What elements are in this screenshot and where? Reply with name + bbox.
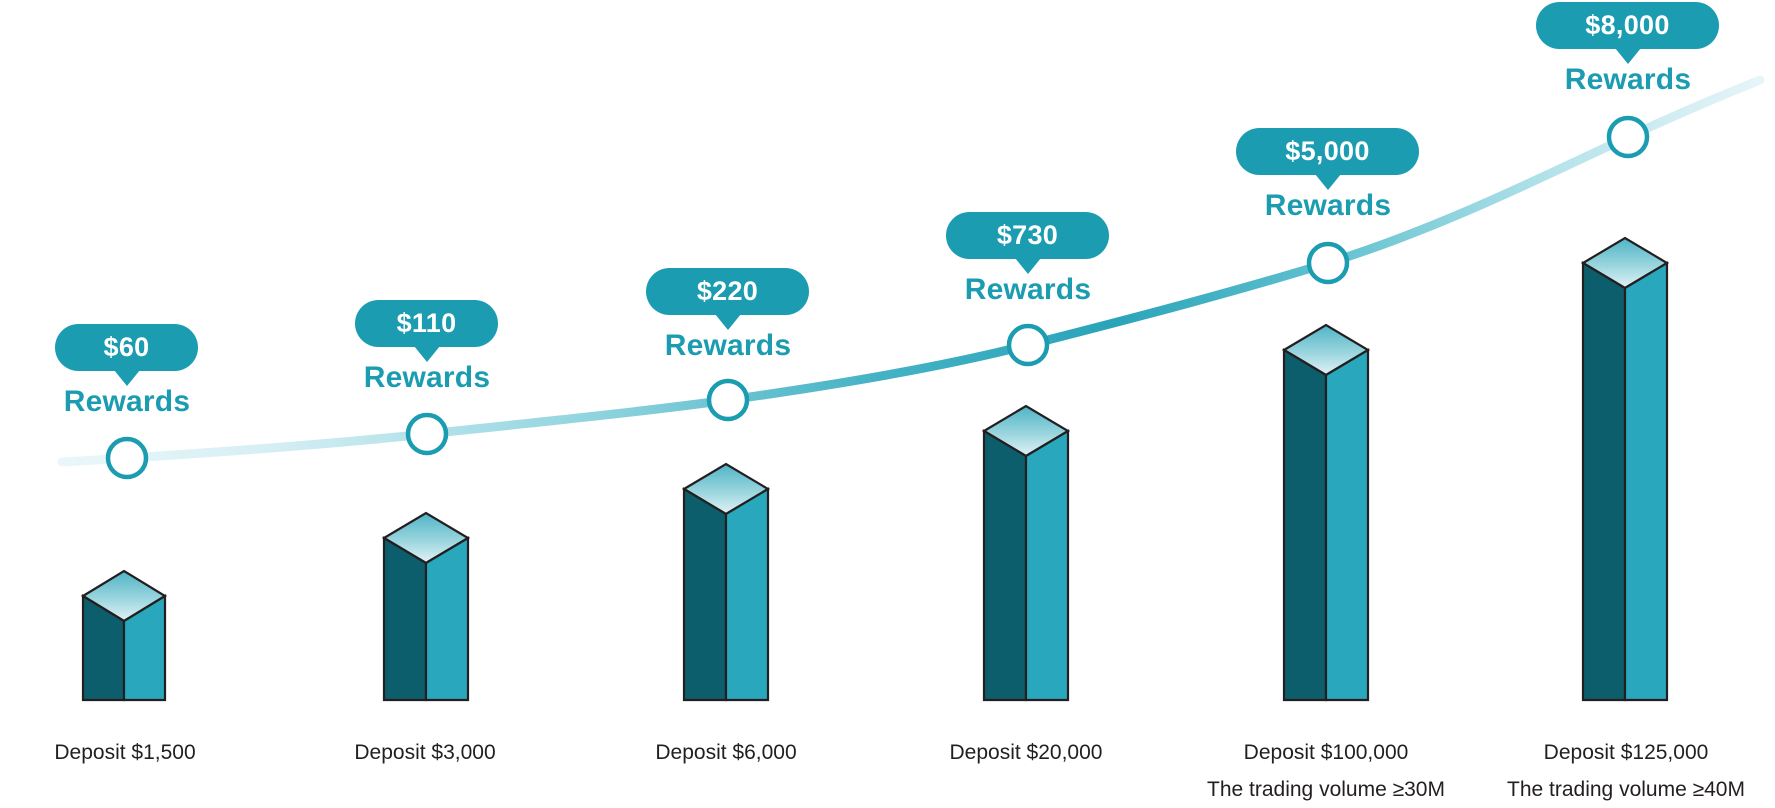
axis-label-tier-5: Deposit $100,000 The trading volume ≥30M: [1171, 734, 1481, 808]
labels-layer: $60 $110 $220 $730 $5,000 $8,000 Rewards…: [0, 0, 1775, 807]
axis-label-tier-2: Deposit $3,000: [300, 734, 550, 771]
rewards-caption-tier-6: Rewards: [1528, 63, 1728, 97]
chart-canvas: $60 $110 $220 $730 $5,000 $8,000 Rewards…: [0, 0, 1775, 807]
axis-label-tier-3: Deposit $6,000: [601, 734, 851, 771]
axis-label-deposit-5: Deposit $100,000: [1244, 741, 1409, 764]
axis-label-deposit-2: Deposit $3,000: [354, 741, 495, 764]
axis-label-deposit-4: Deposit $20,000: [950, 741, 1103, 764]
axis-label-tier-1: Deposit $1,500: [0, 734, 250, 771]
reward-bubble-tier-6[interactable]: $8,000: [1536, 2, 1719, 49]
rewards-caption-tier-3: Rewards: [628, 329, 828, 363]
rewards-caption-tier-1: Rewards: [27, 385, 227, 419]
rewards-caption-tier-2: Rewards: [327, 361, 527, 395]
reward-bubble-tier-1[interactable]: $60: [55, 324, 198, 371]
reward-bubble-tier-2[interactable]: $110: [355, 300, 498, 347]
axis-label-volume-5: The trading volume ≥30M: [1171, 771, 1481, 808]
axis-label-volume-6: The trading volume ≥40M: [1471, 771, 1775, 808]
axis-label-deposit-3: Deposit $6,000: [655, 741, 796, 764]
axis-label-tier-6: Deposit $125,000 The trading volume ≥40M: [1471, 734, 1775, 808]
axis-label-deposit-1: Deposit $1,500: [54, 741, 195, 764]
reward-bubble-tier-5[interactable]: $5,000: [1236, 128, 1419, 175]
rewards-caption-tier-5: Rewards: [1228, 189, 1428, 223]
rewards-caption-tier-4: Rewards: [928, 273, 1128, 307]
axis-label-tier-4: Deposit $20,000: [901, 734, 1151, 771]
axis-label-deposit-6: Deposit $125,000: [1544, 741, 1709, 764]
reward-bubble-tier-4[interactable]: $730: [946, 212, 1109, 259]
reward-bubble-tier-3[interactable]: $220: [646, 268, 809, 315]
